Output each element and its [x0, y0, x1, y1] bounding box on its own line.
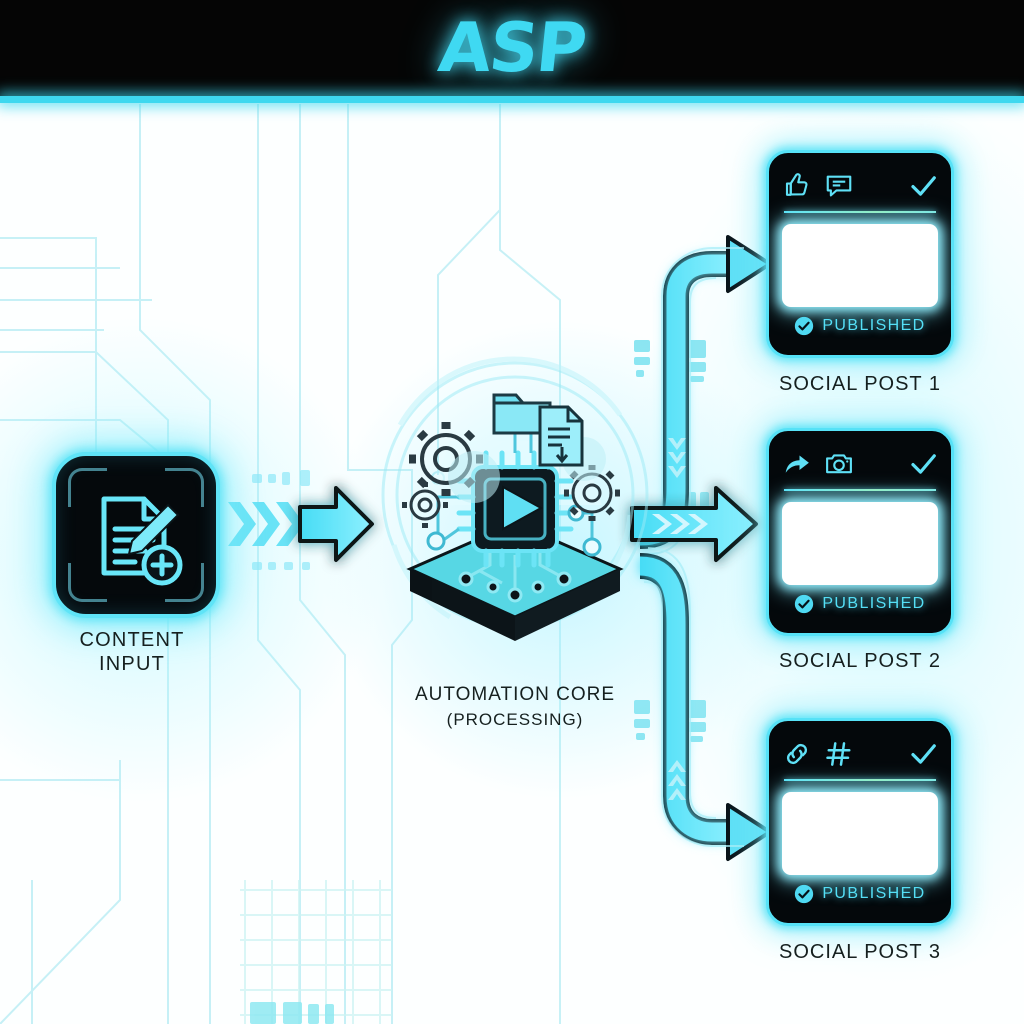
- content-input-tile[interactable]: [52, 452, 220, 618]
- social-post-caption: SOCIAL POST 1: [730, 373, 990, 396]
- app-logo: ASP: [435, 9, 589, 88]
- content-input-label-line1: CONTENT: [79, 629, 184, 651]
- check-icon: [908, 739, 938, 769]
- status-badge: PUBLISHED: [822, 595, 925, 613]
- comment-bubble-icon[interactable]: [824, 171, 854, 201]
- node-content-input[interactable]: CONTENT INPUT: [52, 452, 220, 618]
- automation-core-label-main: AUTOMATION CORE: [415, 684, 615, 705]
- processor-chip-icon: [370, 355, 660, 655]
- share-arrow-icon[interactable]: [782, 449, 812, 479]
- card-status-row: PUBLISHED: [782, 307, 938, 345]
- card-header: [782, 163, 938, 209]
- node-automation-core[interactable]: [370, 355, 660, 655]
- camera-icon[interactable]: [824, 449, 854, 479]
- status-badge: PUBLISHED: [822, 885, 925, 903]
- input-chevrons: [228, 502, 304, 546]
- status-check-badge-icon: [794, 594, 814, 614]
- card-divider: [784, 489, 936, 491]
- card-header: [782, 731, 938, 777]
- card-divider: [784, 779, 936, 781]
- card-header: [782, 441, 938, 487]
- hashtag-icon[interactable]: [824, 739, 854, 769]
- automation-core-label-sub: (PROCESSING): [447, 710, 584, 729]
- social-post-card[interactable]: PUBLISHED: [766, 150, 954, 358]
- document-pencil-plus-icon: [82, 481, 190, 589]
- thumbs-up-icon[interactable]: [782, 171, 812, 201]
- content-input-label-line2: INPUT: [99, 653, 165, 675]
- card-divider: [784, 211, 936, 213]
- social-post-caption: SOCIAL POST 3: [730, 941, 990, 964]
- check-icon: [908, 171, 938, 201]
- status-check-badge-icon: [794, 316, 814, 336]
- diagram-canvas: ASP: [0, 0, 1024, 1024]
- automation-core-label: AUTOMATION CORE (PROCESSING): [370, 682, 660, 732]
- check-icon: [908, 449, 938, 479]
- branch-down-arrowhead: [728, 805, 770, 859]
- link-icon[interactable]: [782, 739, 812, 769]
- status-check-badge-icon: [794, 884, 814, 904]
- status-badge: PUBLISHED: [822, 317, 925, 335]
- social-post-caption: SOCIAL POST 2: [730, 650, 990, 673]
- card-content-area[interactable]: [782, 502, 938, 585]
- card-status-row: PUBLISHED: [782, 585, 938, 623]
- social-post-card[interactable]: PUBLISHED: [766, 428, 954, 636]
- card-content-area[interactable]: [782, 792, 938, 875]
- social-post-card[interactable]: PUBLISHED: [766, 718, 954, 926]
- content-input-label: CONTENT INPUT: [12, 628, 252, 676]
- card-status-row: PUBLISHED: [782, 875, 938, 913]
- document-download-icon: [540, 407, 582, 465]
- app-header: ASP: [0, 0, 1024, 96]
- branch-up-arrowhead: [728, 237, 770, 291]
- card-content-area[interactable]: [782, 224, 938, 307]
- input-arrow: [300, 488, 372, 560]
